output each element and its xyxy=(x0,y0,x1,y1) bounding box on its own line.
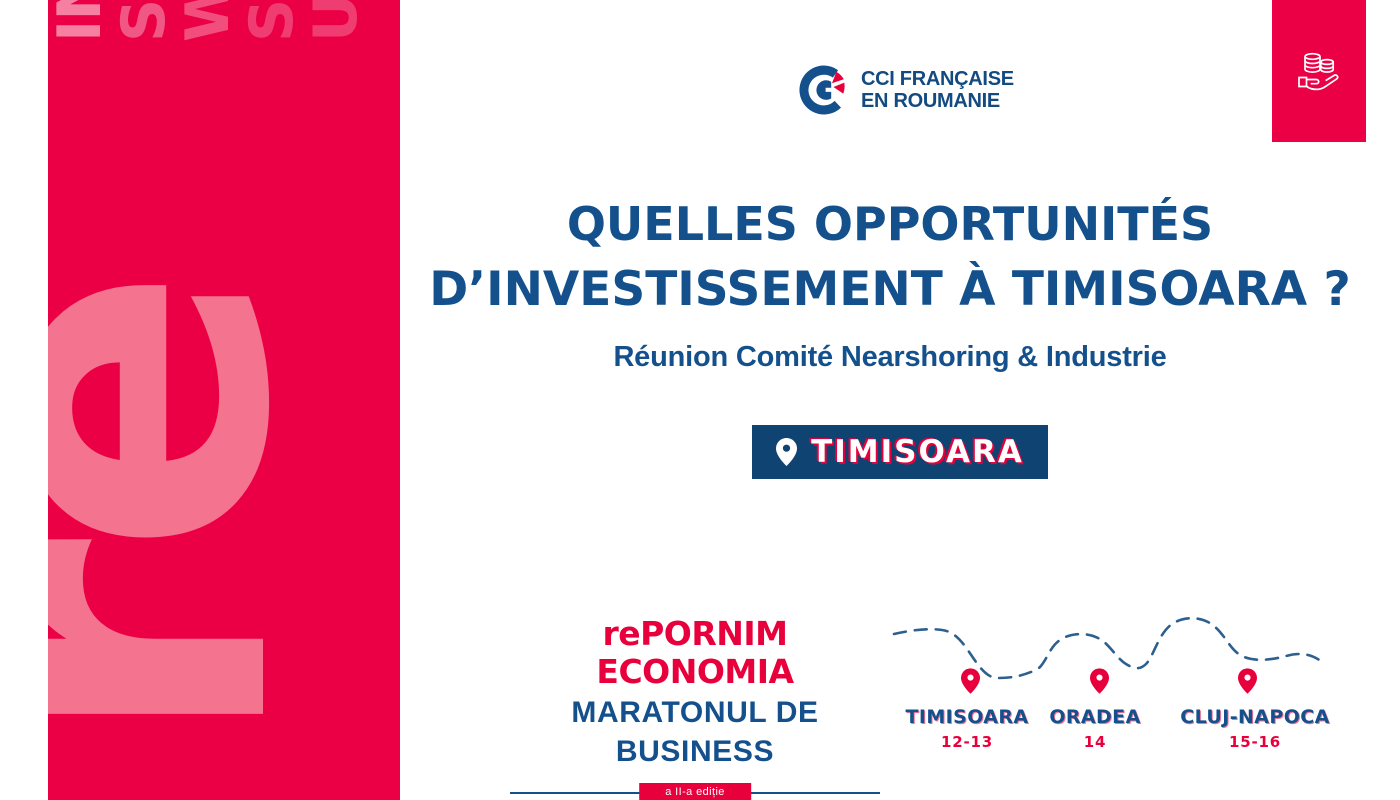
re-lettermark: re xyxy=(48,310,400,750)
edition-badge: a II-a ediție xyxy=(639,783,751,800)
cci-logo-line-2: EN ROUMANIE xyxy=(861,90,1014,112)
route-stop-dates: 14 xyxy=(1010,733,1180,751)
icon-tile xyxy=(1272,0,1366,142)
map-pin-icon-cluj xyxy=(1238,668,1257,694)
hand-holding-coins-icon xyxy=(1296,49,1342,93)
map-pin-icon-timisoara xyxy=(961,668,980,694)
cci-circle-mark-icon xyxy=(797,62,851,118)
event-lockup-title-prefix: re xyxy=(602,614,640,653)
vertical-word-skill: SKILL xyxy=(242,0,302,42)
location-badge[interactable]: TIMISOARA xyxy=(752,425,1048,479)
cci-logo-text: CCI FRANÇAISE EN ROUMANIE xyxy=(861,68,1014,113)
page-subtitle: Réunion Comité Nearshoring & Industrie xyxy=(420,341,1360,374)
event-lockup: rePORNIM ECONOMIA MARATONUL DE BUSINESS … xyxy=(500,615,890,800)
route-stop-cluj-napoca: CLUJ-NAPOCA 15-16 xyxy=(1170,706,1340,751)
cci-logo: CCI FRANÇAISE EN ROUMANIE xyxy=(797,62,1014,118)
presentation-slide: re INVEST START WORK SKILL UNION xyxy=(0,0,1400,800)
map-pin-icon xyxy=(776,438,797,466)
page-title-line-1: QUELLES OPPORTUNITÉS xyxy=(420,192,1360,257)
route-dashed-path xyxy=(890,612,1360,712)
vertical-word-union: UNION xyxy=(306,0,366,42)
event-lockup-divider: a II-a ediție xyxy=(500,783,890,800)
route-stop-oradea: ORADEA 14 xyxy=(1010,706,1180,751)
route-stop-dates: 15-16 xyxy=(1170,733,1340,751)
vertical-word-invest: INVEST xyxy=(50,0,110,42)
event-lockup-title: rePORNIM ECONOMIA xyxy=(500,615,890,691)
vertical-word-stack: INVEST START WORK SKILL UNION xyxy=(48,0,400,330)
event-lockup-subtitle: MARATONUL DE BUSINESS xyxy=(500,693,890,771)
route-map: TIMISOARA 12-13 ORADEA 14 CLUJ-NAPOCA 15… xyxy=(890,612,1360,782)
map-pin-icon-oradea xyxy=(1090,668,1109,694)
page-title: QUELLES OPPORTUNITÉS D’INVESTISSEMENT À … xyxy=(420,192,1360,324)
vertical-word-work: WORK xyxy=(178,0,238,42)
brand-panel: re INVEST START WORK SKILL UNION xyxy=(48,0,400,800)
vertical-word-start: START xyxy=(114,0,174,42)
location-badge-label: TIMISOARA xyxy=(811,434,1024,470)
cci-logo-line-1: CCI FRANÇAISE xyxy=(861,68,1014,90)
route-stop-name: CLUJ-NAPOCA xyxy=(1170,706,1340,728)
route-stop-name: ORADEA xyxy=(1010,706,1180,728)
page-title-line-2: D’INVESTISSEMENT À TIMISOARA ? xyxy=(420,257,1360,324)
